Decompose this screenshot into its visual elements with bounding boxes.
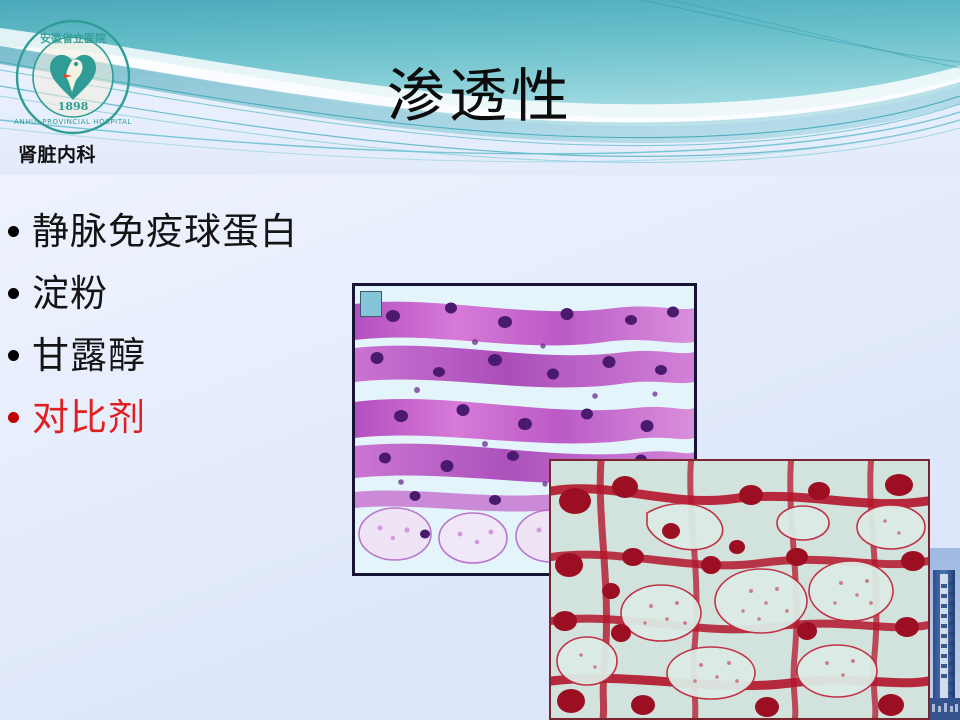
- bullet-dot-icon: [8, 350, 19, 361]
- department-label: 肾脏内科: [18, 140, 96, 167]
- hospital-building-photo: [930, 548, 960, 720]
- list-item[interactable]: 静脉免疫球蛋白: [8, 206, 358, 258]
- list-item-label: 甘露醇: [32, 330, 146, 382]
- list-item[interactable]: 淀粉: [8, 268, 358, 320]
- list-item-highlighted[interactable]: 对比剂: [8, 392, 358, 444]
- slide-title: 渗透性: [0, 66, 960, 127]
- list-item[interactable]: 甘露醇: [8, 330, 358, 382]
- list-item-label: 静脉免疫球蛋白: [32, 206, 298, 258]
- list-item-label: 对比剂: [32, 392, 146, 444]
- svg-text:安徽省立医院: 安徽省立医院: [40, 31, 106, 45]
- bullet-dot-icon: [8, 226, 19, 237]
- bullet-dot-icon: [8, 288, 19, 299]
- list-item-label: 淀粉: [32, 268, 108, 320]
- bullet-list: 静脉免疫球蛋白 淀粉 甘露醇 对比剂: [8, 206, 358, 454]
- presentation-slide: 安徽省立医院 1898 ANHUI PROVINCIAL HOSPITAL 肾脏…: [0, 0, 960, 720]
- bullet-dot-icon: [8, 412, 19, 423]
- image-corner-inset: [360, 291, 382, 317]
- histology-red-stain-image: [549, 459, 930, 720]
